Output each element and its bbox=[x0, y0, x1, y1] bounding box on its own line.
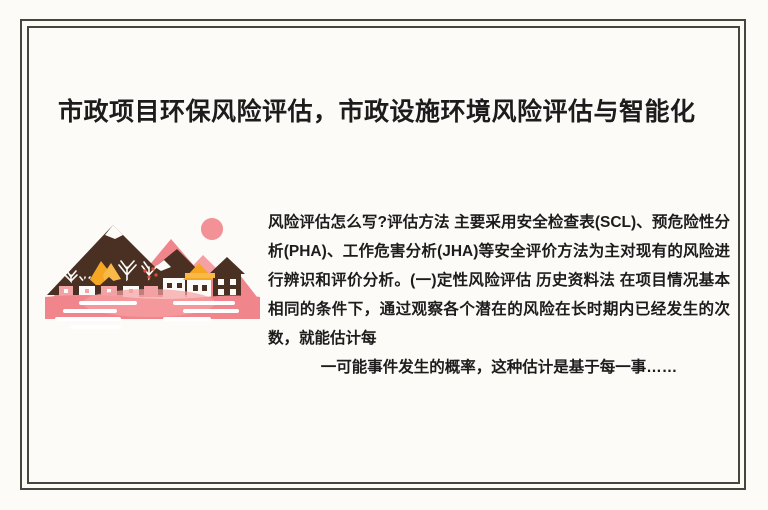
page-root: 市政项目环保风险评估，市政设施环境风险评估与智能化 bbox=[0, 0, 768, 510]
article-body: 风险评估怎么写?评估方法 主要采用安全检查表(SCL)、预危险性分析(PHA)、… bbox=[268, 208, 730, 411]
article-body-main: 风险评估怎么写?评估方法 主要采用安全检查表(SCL)、预危险性分析(PHA)、… bbox=[268, 214, 730, 347]
article-body-last-line: 一可能事件发生的概率，这种估计是基于每一事…… bbox=[268, 353, 730, 382]
mountain-village-illustration bbox=[45, 205, 260, 330]
article-content: 风险评估怎么写?评估方法 主要采用安全检查表(SCL)、预危险性分析(PHA)、… bbox=[40, 195, 730, 405]
page-title: 市政项目环保风险评估，市政设施环境风险评估与智能化 bbox=[58, 95, 718, 129]
